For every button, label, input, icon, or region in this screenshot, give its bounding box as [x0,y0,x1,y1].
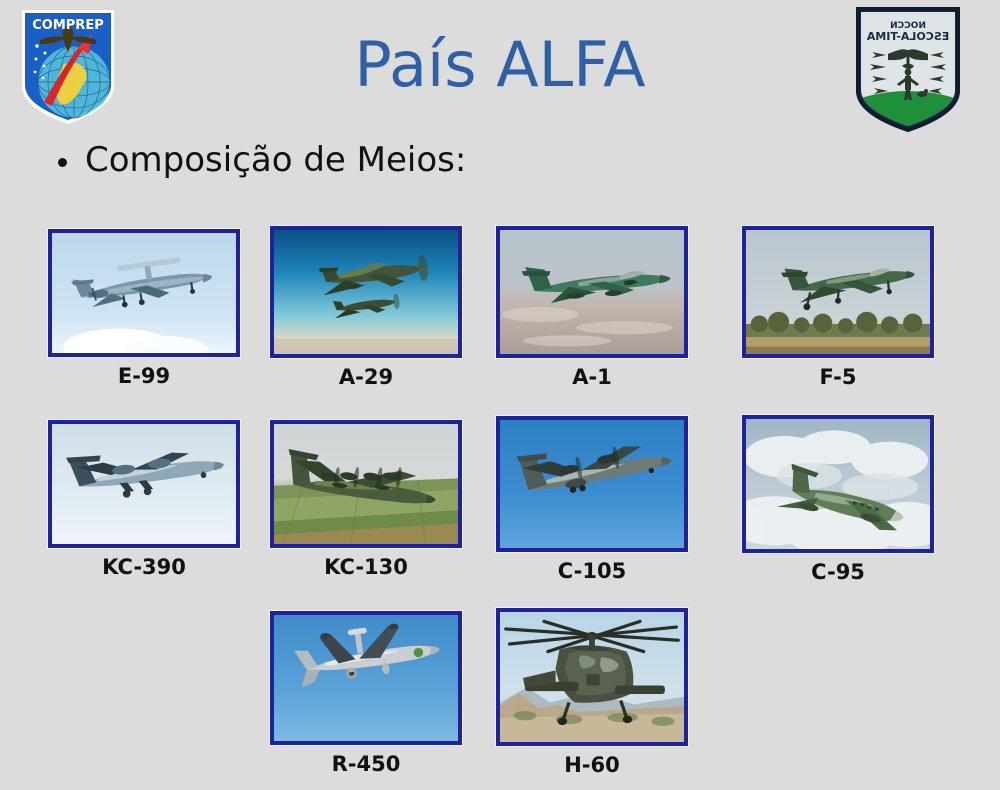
aircraft-photo-kc390[interactable] [48,420,240,548]
aircraft-label-a1: A-1 [496,365,688,389]
aircraft-card-f5[interactable]: F-5 [742,226,934,358]
aircraft-card-kc130[interactable]: KC-130 [270,420,462,548]
aircraft-card-kc390[interactable]: KC-390 [48,420,240,548]
aircraft-label-kc390: KC-390 [48,555,240,579]
aircraft-label-r450: R-450 [270,752,462,776]
aircraft-a1-icon [500,230,684,354]
aircraft-photo-e99[interactable] [48,229,240,357]
aircraft-photo-c105[interactable] [496,416,688,552]
aircraft-card-c105[interactable]: C-105 [496,416,688,552]
aircraft-label-c95: C-95 [742,560,934,584]
aircraft-a29-icon [274,230,458,354]
aircraft-e99-icon [52,233,236,353]
aircraft-r450-icon [274,615,458,741]
aircraft-photo-c95[interactable] [742,415,934,553]
aircraft-label-h60: H-60 [496,753,688,777]
aircraft-grid: E-99 [0,0,1000,790]
aircraft-kc130-icon [274,424,458,544]
aircraft-kc390-icon [52,424,236,544]
aircraft-card-h60[interactable]: H-60 [496,608,688,746]
aircraft-card-a29[interactable]: A-29 [270,226,462,358]
aircraft-h60-icon [500,612,684,742]
aircraft-photo-f5[interactable] [742,226,934,358]
aircraft-card-a1[interactable]: A-1 [496,226,688,358]
aircraft-c95-icon [746,419,930,549]
aircraft-photo-a1[interactable] [496,226,688,358]
aircraft-label-f5: F-5 [742,365,934,389]
aircraft-photo-r450[interactable] [270,611,462,745]
aircraft-label-e99: E-99 [48,364,240,388]
aircraft-label-a29: A-29 [270,365,462,389]
aircraft-label-kc130: KC-130 [270,555,462,579]
aircraft-card-c95[interactable]: C-95 [742,415,934,553]
aircraft-card-e99[interactable]: E-99 [48,229,240,357]
aircraft-photo-h60[interactable] [496,608,688,746]
aircraft-card-r450[interactable]: R-450 [270,611,462,745]
aircraft-f5-icon [746,230,930,354]
aircraft-label-c105: C-105 [496,559,688,583]
aircraft-photo-a29[interactable] [270,226,462,358]
aircraft-photo-kc130[interactable] [270,420,462,548]
aircraft-c105-icon [500,420,684,548]
